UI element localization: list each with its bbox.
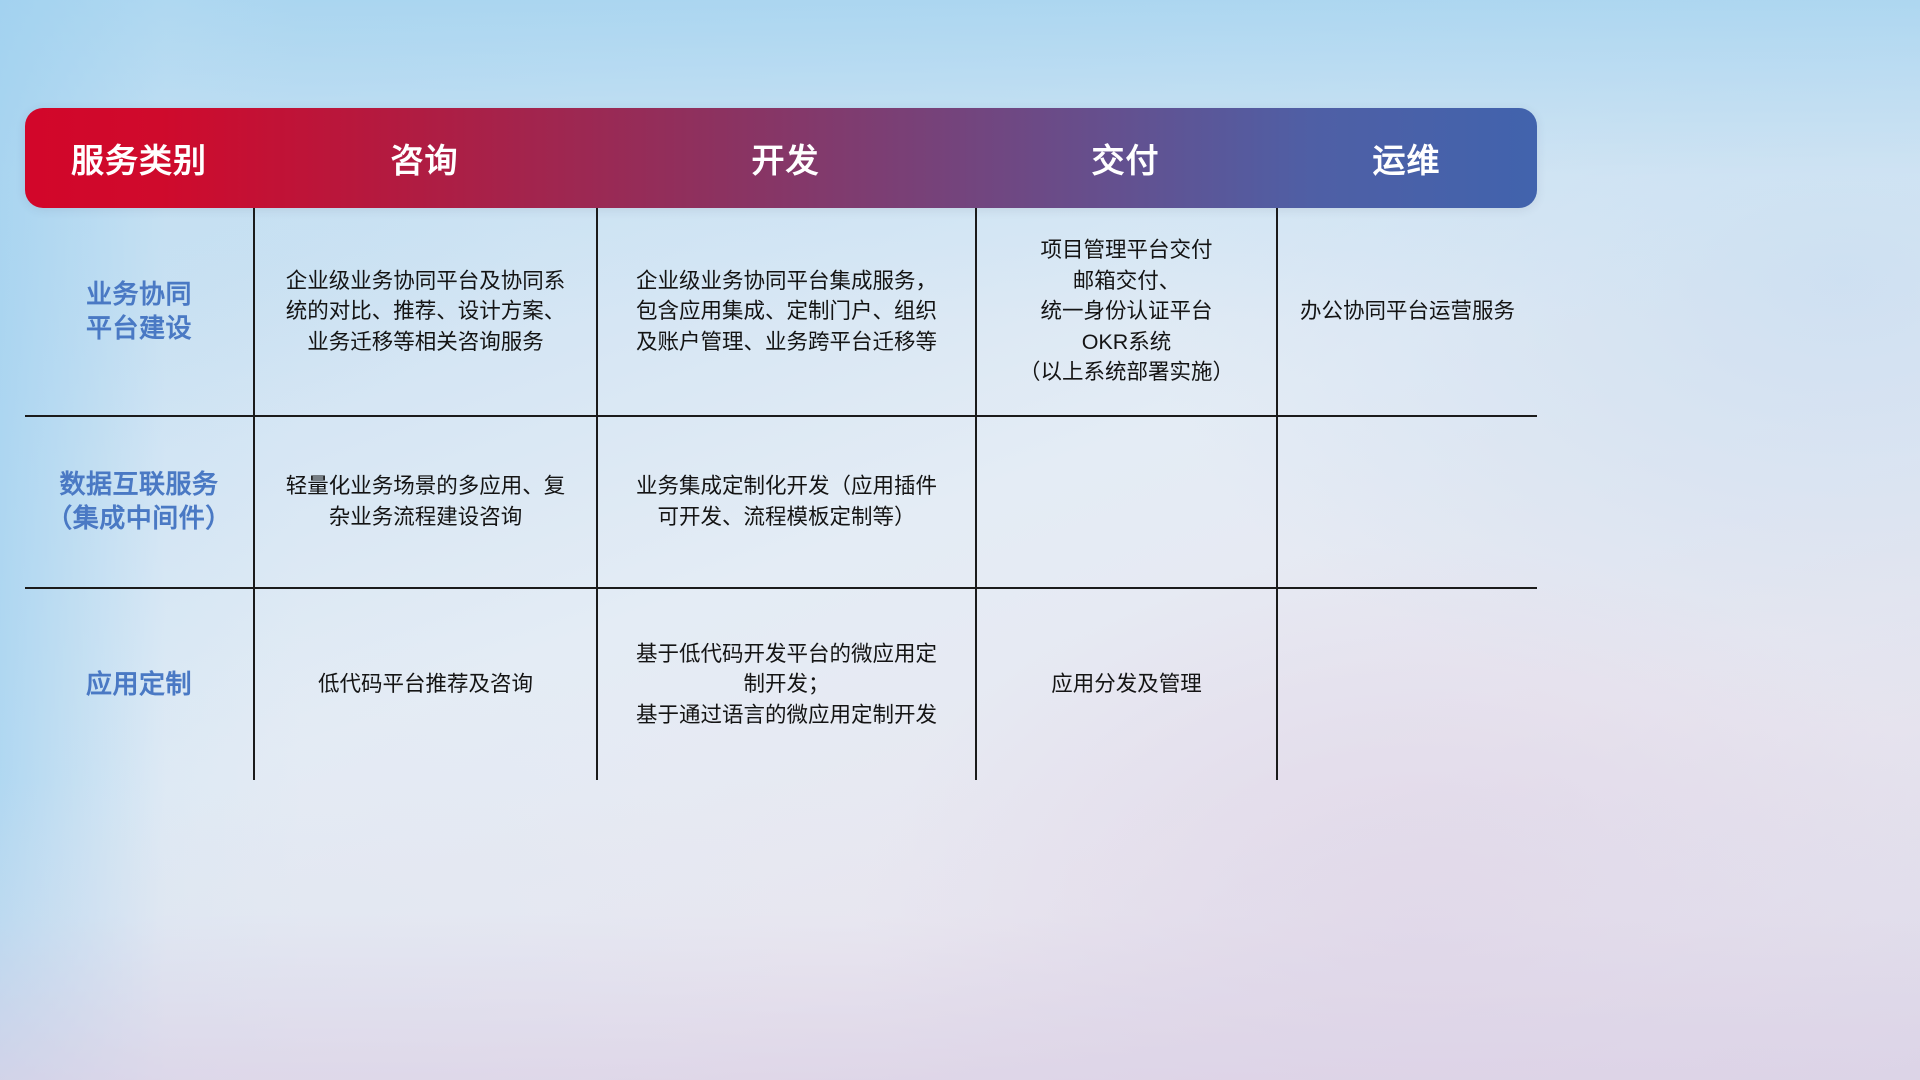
table-header-operations: 运维: [1276, 134, 1537, 182]
cell-consulting: 轻量化业务场景的多应用、复 杂业务流程建设咨询: [253, 417, 596, 587]
cell-operations: 办公协同平台运营服务: [1276, 208, 1537, 415]
background-wash-bottom: [0, 780, 1920, 1080]
service-matrix-table: 服务类别 咨询 开发 交付 运维 业务协同 平台建设 企业级业务协同平台及协同系…: [25, 108, 1537, 780]
cell-development: 企业级业务协同平台集成服务， 包含应用集成、定制门户、组织 及账户管理、业务跨平…: [596, 208, 975, 415]
cell-delivery: [975, 417, 1276, 587]
cell-development: 基于低代码开发平台的微应用定 制开发； 基于通过语言的微应用定制开发: [596, 589, 975, 780]
cell-delivery: 应用分发及管理: [975, 589, 1276, 780]
table-header-category: 服务类别: [25, 134, 253, 182]
table-body: 业务协同 平台建设 企业级业务协同平台及协同系 统的对比、推荐、设计方案、 业务…: [25, 208, 1537, 780]
cell-development: 业务集成定制化开发（应用插件 可开发、流程模板定制等）: [596, 417, 975, 587]
table-header-consulting: 咨询: [253, 134, 596, 182]
table-row: 数据互联服务 （集成中间件） 轻量化业务场景的多应用、复 杂业务流程建设咨询 业…: [25, 415, 1537, 587]
row-category-label: 业务协同 平台建设: [25, 208, 253, 415]
cell-operations: [1276, 417, 1537, 587]
table-header-development: 开发: [596, 134, 975, 182]
row-category-label: 应用定制: [25, 589, 253, 780]
cell-delivery: 项目管理平台交付 邮箱交付、 统一身份认证平台 OKR系统 （以上系统部署实施）: [975, 208, 1276, 415]
row-category-label: 数据互联服务 （集成中间件）: [25, 417, 253, 587]
cell-consulting: 低代码平台推荐及咨询: [253, 589, 596, 780]
cell-operations: [1276, 589, 1537, 780]
cell-consulting: 企业级业务协同平台及协同系 统的对比、推荐、设计方案、 业务迁移等相关咨询服务: [253, 208, 596, 415]
table-row: 应用定制 低代码平台推荐及咨询 基于低代码开发平台的微应用定 制开发； 基于通过…: [25, 587, 1537, 780]
table-header-delivery: 交付: [975, 134, 1276, 182]
table-header-row: 服务类别 咨询 开发 交付 运维: [25, 108, 1537, 208]
table-row: 业务协同 平台建设 企业级业务协同平台及协同系 统的对比、推荐、设计方案、 业务…: [25, 208, 1537, 415]
